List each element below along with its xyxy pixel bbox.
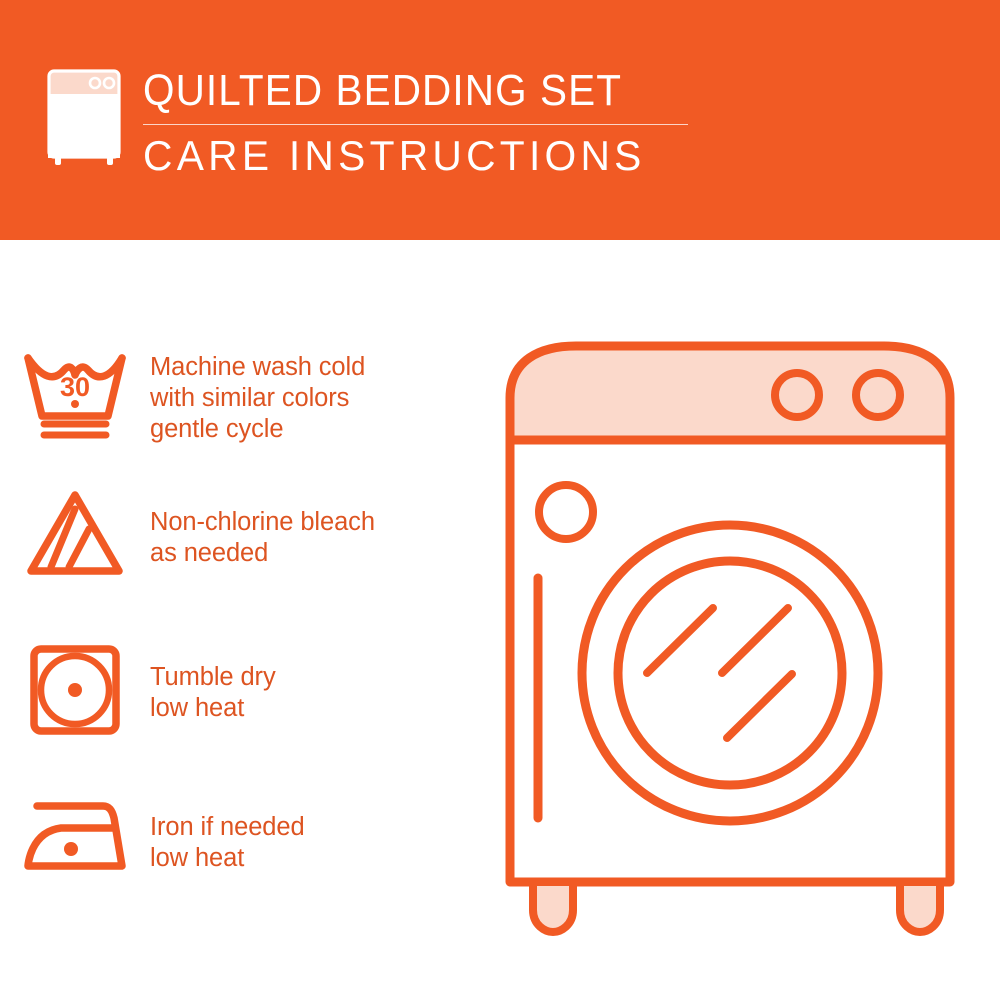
washing-machine-illustration [0,0,1000,1000]
control-panel [513,349,947,440]
care-instructions-page: QUILTED BEDDING SET CARE INSTRUCTIONS 30… [0,0,1000,1000]
foot-left [533,882,573,932]
foot-right [900,882,940,932]
